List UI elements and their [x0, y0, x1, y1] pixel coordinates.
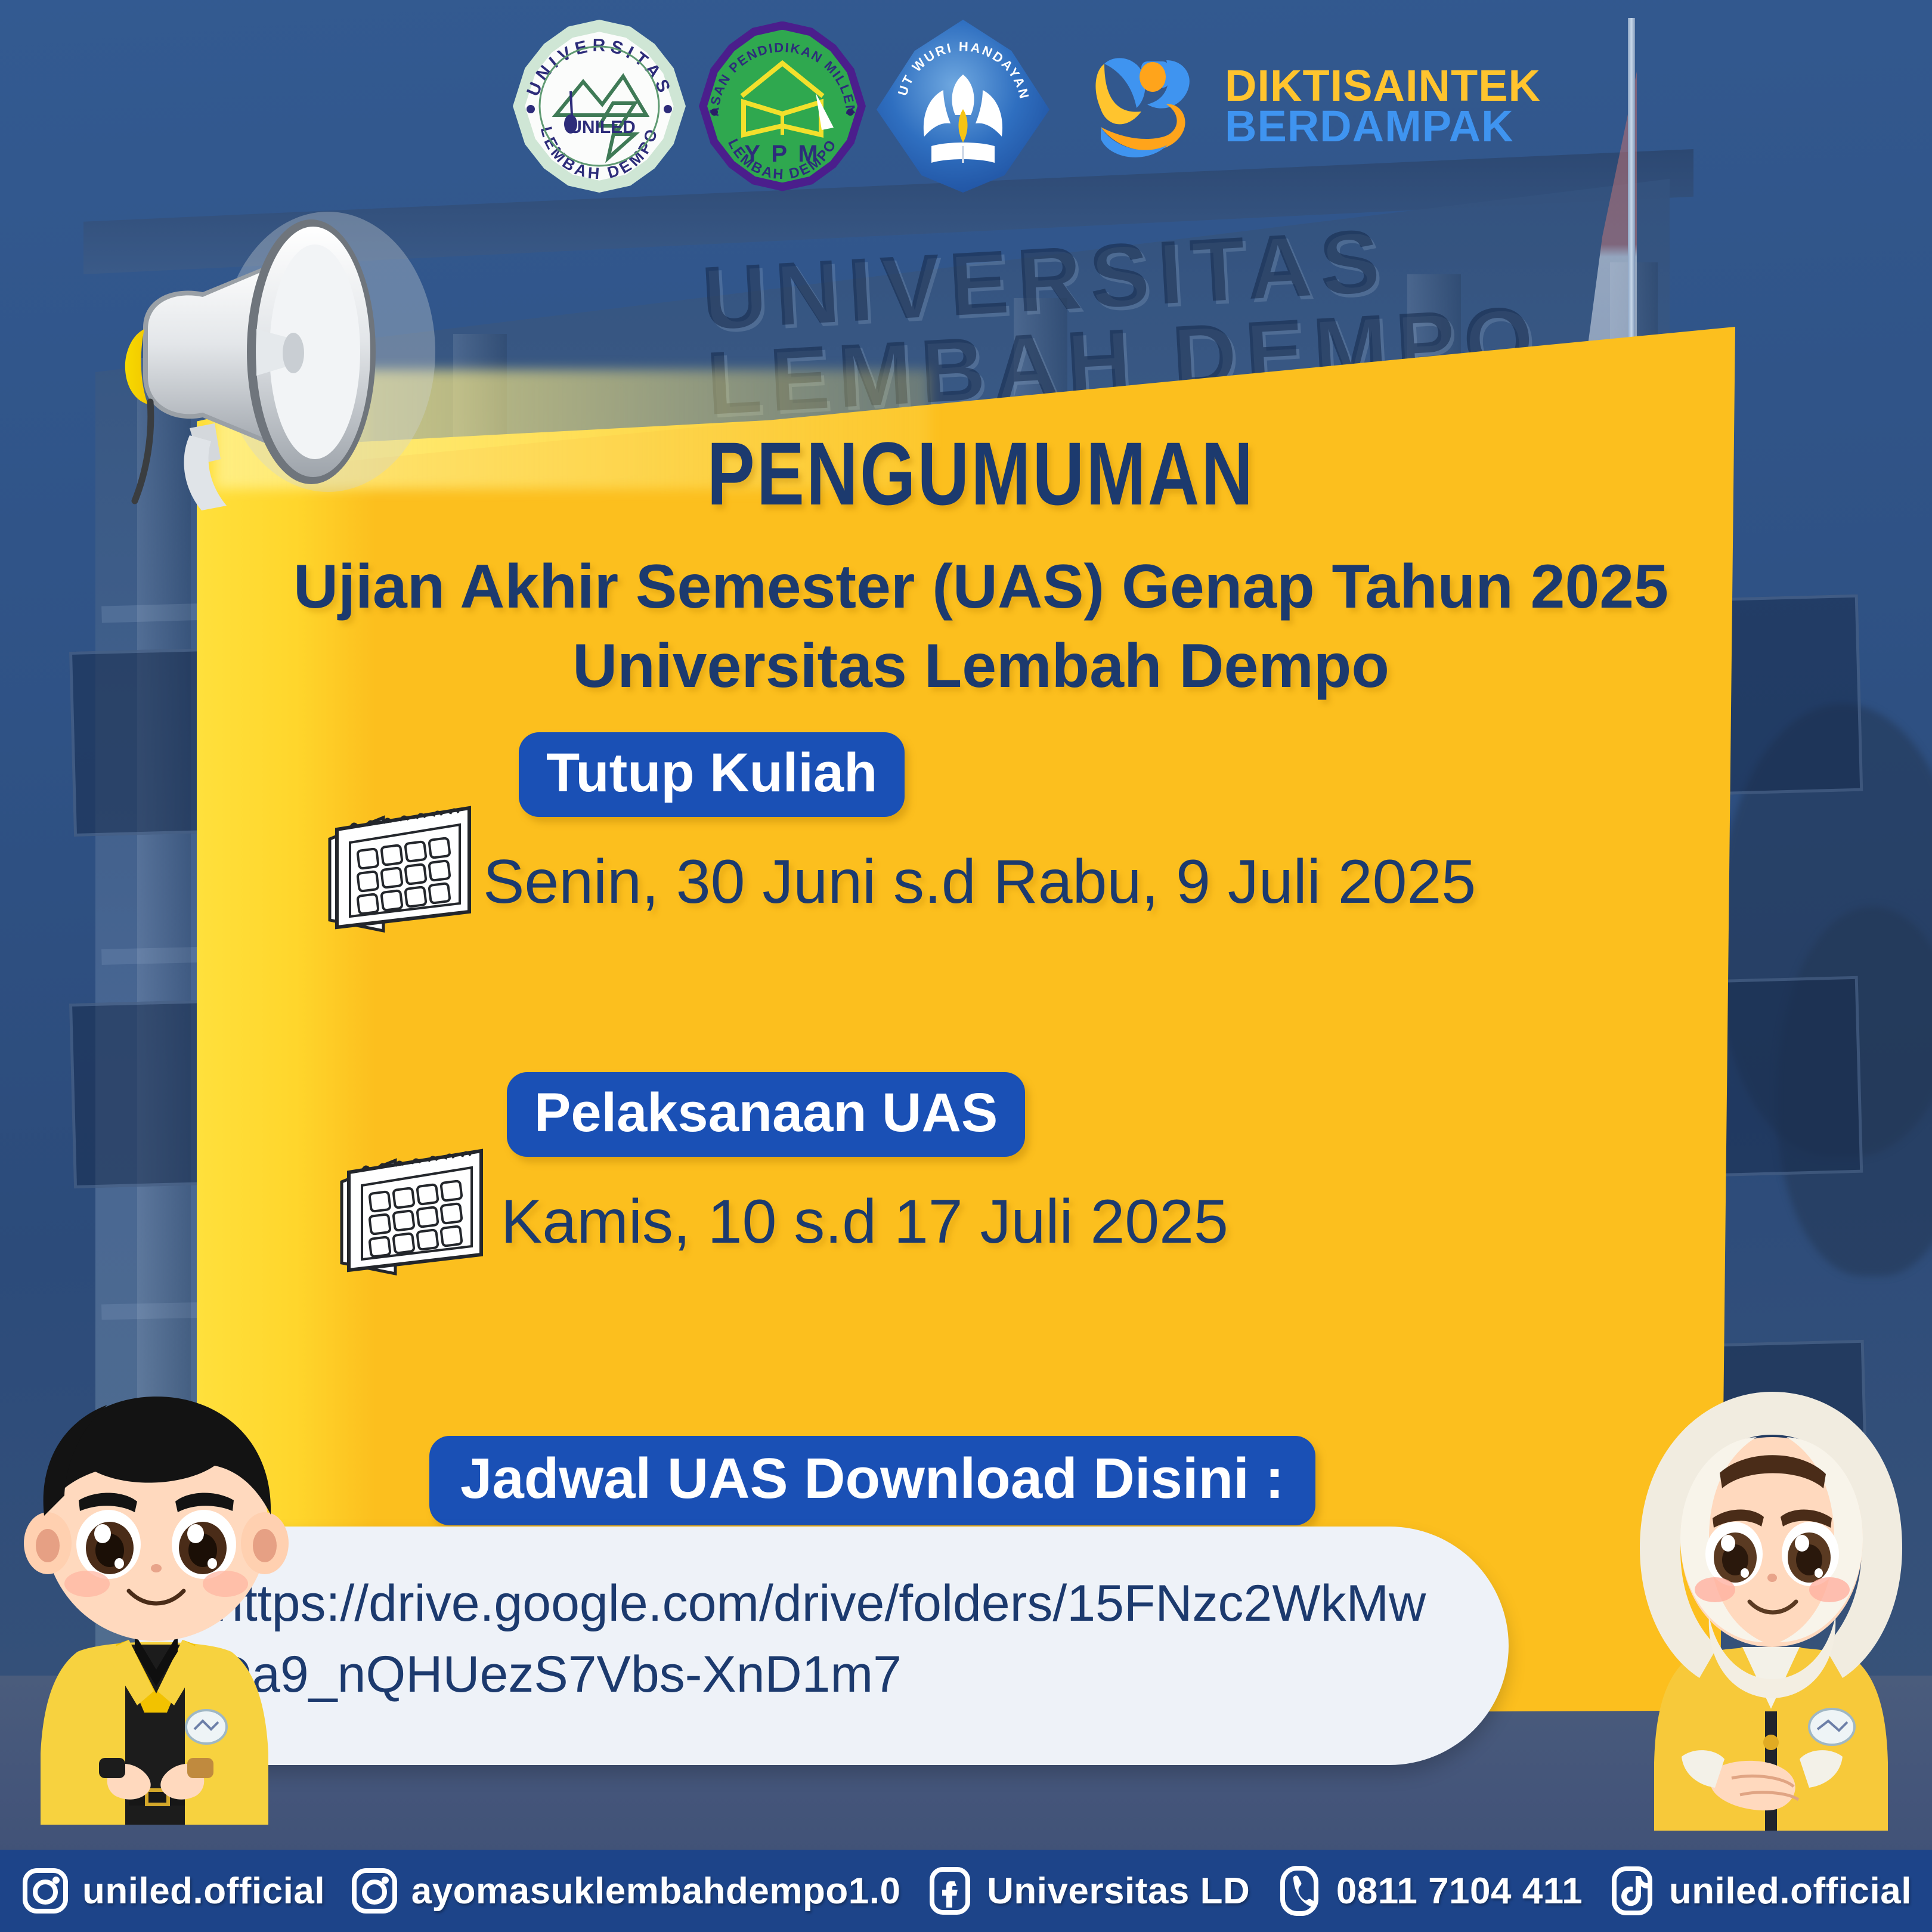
calendar-icon [319, 795, 480, 944]
footer-item-tiktok[interactable]: uniled.official [1607, 1866, 1912, 1916]
download-url-text[interactable]: https://drive.google.com/drive/folders/1… [215, 1568, 1431, 1710]
detail-tutup-kuliah: Senin, 30 Juni s.d Rabu, 9 Juli 2025 [483, 847, 1735, 918]
svg-text:Y P M: Y P M [744, 141, 820, 167]
diktisaintek-mark-icon [1077, 38, 1214, 175]
footer-label: Universitas LD [987, 1870, 1250, 1912]
badge-pelaksanaan-uas: Pelaksanaan UAS [507, 1072, 1025, 1157]
svg-text:UNILED: UNILED [569, 117, 636, 137]
section-pelaksanaan-uas: Pelaksanaan UAS Kamis, 10 s.d 17 Juli 20… [227, 1072, 1735, 1258]
badge-download: Jadwal UAS Download Disini : [429, 1436, 1315, 1525]
facebook-icon [925, 1866, 975, 1916]
subtitle-line2: Universitas Lembah Dempo [274, 627, 1688, 706]
ypm-logo: YAYASAN PENDIDIKAN MILLENIUM LEMBAH DEMP… [699, 21, 866, 191]
footer-label: uniled.official [1669, 1870, 1912, 1912]
instagram-icon [20, 1866, 70, 1916]
panel-content: PENGUMUMAN Ujian Akhir Semester (UAS) Ge… [227, 327, 1735, 1716]
calendar-icon [331, 1138, 492, 1287]
section-tutup-kuliah: Tutup Kuliah Senin, 30 Juni s.d Rabu, 9 … [227, 732, 1735, 918]
subtitle: Ujian Akhir Semester (UAS) Genap Tahun 2… [274, 547, 1688, 706]
badge-tutup-kuliah: Tutup Kuliah [519, 732, 905, 817]
diktisaintek-logo: DIKTISAINTEK BERDAMPAK [1077, 38, 1541, 175]
download-url-box[interactable]: https://drive.google.com/drive/folders/1… [137, 1527, 1509, 1765]
tut-wuri-emblem: TUT WURI HANDAYANI [877, 20, 1049, 193]
detail-pelaksanaan-uas: Kamis, 10 s.d 17 Juli 2025 [501, 1187, 1735, 1258]
diktisaintek-line1: DIKTISAINTEK [1225, 66, 1541, 106]
window [69, 648, 211, 837]
footer-label: 0811 7104 411 [1336, 1870, 1583, 1912]
section-download: Jadwal UAS Download Disini : [227, 1436, 1735, 1525]
window [69, 1000, 211, 1188]
subtitle-line1: Ujian Akhir Semester (UAS) Genap Tahun 2… [274, 547, 1688, 627]
tiktok-icon [1607, 1866, 1657, 1916]
footer-item-facebook[interactable]: Universitas LD [925, 1866, 1250, 1916]
phone-icon [1274, 1866, 1324, 1916]
social-footer: uniled.official ayomasuklembahdempo1.0 U… [0, 1850, 1932, 1932]
footer-label: ayomasuklembahdempo1.0 [411, 1870, 901, 1912]
footer-label: uniled.official [82, 1870, 325, 1912]
footer-item-instagram-uniled[interactable]: uniled.official [20, 1866, 325, 1916]
tut-wuri-handayani-logo: TUT WURI HANDAYANI [877, 20, 1049, 193]
logo-row: UNIVERSITAS LEMBAH DEMPO UNILED [513, 17, 1431, 196]
diktisaintek-line2: BERDAMPAK [1225, 106, 1541, 147]
uniled-ring-text: UNIVERSITAS LEMBAH DEMPO UNILED [513, 20, 686, 193]
svg-text:UNIVERSITAS: UNIVERSITAS [523, 36, 675, 100]
mascot-male-student [0, 1371, 322, 1854]
poster-root: UNIVERSITAS LEMBAH DEMPO UNIVERSITAS LEM… [0, 0, 1932, 1932]
footer-item-phone[interactable]: 0811 7104 411 [1274, 1866, 1583, 1916]
ypm-ring-text: YAYASAN PENDIDIKAN MILLENIUM LEMBAH DEMP… [699, 21, 866, 191]
footer-item-instagram-ayomasuk[interactable]: ayomasuklembahdempo1.0 [349, 1866, 901, 1916]
mascot-female-student [1604, 1377, 1932, 1854]
uniled-logo: UNIVERSITAS LEMBAH DEMPO UNILED [513, 20, 686, 193]
instagram-icon [349, 1866, 400, 1916]
page-title: PENGUMUMAN [377, 422, 1584, 525]
